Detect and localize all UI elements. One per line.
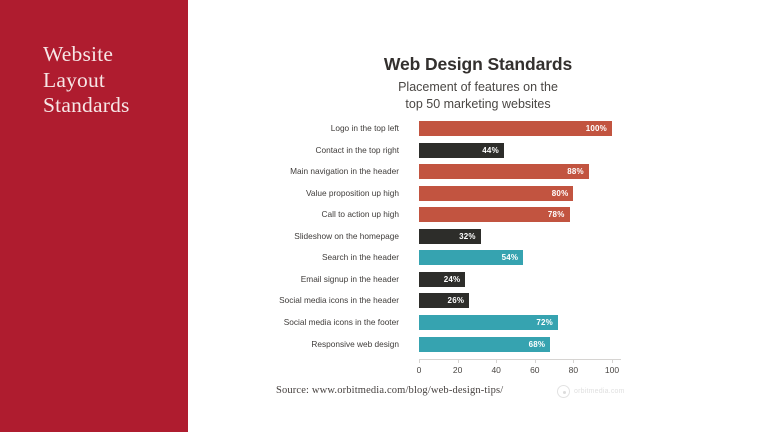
bar-track: 72% (419, 315, 619, 330)
bar-track: 44% (419, 143, 619, 158)
bar-category-label: Responsive web design (188, 337, 403, 352)
bar-row: Main navigation in the header88% (188, 164, 768, 179)
bar-track: 24% (419, 272, 619, 287)
bar-category-label: Main navigation in the header (188, 164, 403, 179)
bar-fill: 26% (419, 293, 469, 308)
bar-category-label: Value proposition up high (188, 186, 403, 201)
x-axis-tick (573, 359, 574, 363)
chart-subtitle: Placement of features on the top 50 mark… (188, 79, 768, 112)
bar-value-label: 100% (586, 121, 607, 136)
logo-text: orbitmedia.com (574, 388, 625, 395)
bar-fill: 24% (419, 272, 465, 287)
bar-fill: 68% (419, 337, 550, 352)
bar-fill: 54% (419, 250, 523, 265)
bar-row: Email signup in the header24% (188, 272, 768, 287)
x-axis-tick-label: 0 (404, 365, 434, 375)
x-axis-tick-label: 20 (443, 365, 473, 375)
slide-title-line-3: Standards (43, 93, 178, 119)
chart-subtitle-line-1: Placement of features on the (188, 79, 768, 96)
chart-title: Web Design Standards (188, 54, 768, 75)
bar-category-label: Contact in the top right (188, 143, 403, 158)
x-axis-tick-label: 60 (520, 365, 550, 375)
bar-fill: 72% (419, 315, 558, 330)
bar-track: 80% (419, 186, 619, 201)
slide-title: Website Layout Standards (43, 42, 178, 119)
x-axis-tick-label: 100 (597, 365, 627, 375)
bar-fill: 100% (419, 121, 612, 136)
x-axis-tick (419, 359, 420, 363)
bar-category-label: Logo in the top left (188, 121, 403, 136)
chart-area: Web Design Standards Placement of featur… (188, 0, 768, 432)
x-axis-line (419, 359, 621, 360)
bar-value-label: 24% (444, 272, 461, 287)
bar-fill: 88% (419, 164, 589, 179)
bar-track: 54% (419, 250, 619, 265)
bar-value-label: 80% (552, 186, 569, 201)
bar-chart-plot: Logo in the top left100%Contact in the t… (188, 118, 768, 358)
x-axis-tick-label: 40 (481, 365, 511, 375)
bar-value-label: 26% (448, 293, 465, 308)
bar-fill: 78% (419, 207, 570, 222)
bar-row: Slideshow on the homepage32% (188, 229, 768, 244)
bar-value-label: 68% (529, 337, 546, 352)
x-axis-tick (458, 359, 459, 363)
bar-row: Call to action up high78% (188, 207, 768, 222)
bar-value-label: 54% (502, 250, 519, 265)
bar-category-label: Social media icons in the footer (188, 315, 403, 330)
chart-subtitle-line-2: top 50 marketing websites (188, 96, 768, 113)
bar-row: Responsive web design68% (188, 337, 768, 352)
bar-row: Search in the header54% (188, 250, 768, 265)
bar-row: Contact in the top right44% (188, 143, 768, 158)
bar-category-label: Email signup in the header (188, 272, 403, 287)
bar-track: 26% (419, 293, 619, 308)
bar-category-label: Search in the header (188, 250, 403, 265)
x-axis-tick (612, 359, 613, 363)
bar-track: 32% (419, 229, 619, 244)
bar-track: 68% (419, 337, 619, 352)
orbitmedia-logo: orbitmedia.com (557, 385, 625, 398)
x-axis-tick (535, 359, 536, 363)
bar-value-label: 78% (548, 207, 565, 222)
bar-fill: 80% (419, 186, 573, 201)
bar-row: Logo in the top left100% (188, 121, 768, 136)
bar-track: 78% (419, 207, 619, 222)
bar-value-label: 88% (567, 164, 584, 179)
bar-track: 100% (419, 121, 619, 136)
side-panel: Website Layout Standards (0, 0, 188, 432)
orbit-circle-icon (557, 385, 570, 398)
bar-value-label: 72% (536, 315, 553, 330)
bar-category-label: Call to action up high (188, 207, 403, 222)
bar-category-label: Social media icons in the header (188, 293, 403, 308)
bar-row: Social media icons in the footer72% (188, 315, 768, 330)
source-note: Source: www.orbitmedia.com/blog/web-desi… (276, 385, 503, 396)
bar-row: Value proposition up high80% (188, 186, 768, 201)
slide-title-line-1: Website (43, 42, 178, 68)
bar-value-label: 32% (459, 229, 476, 244)
bar-row: Social media icons in the header26% (188, 293, 768, 308)
bar-fill: 32% (419, 229, 481, 244)
x-axis-tick (496, 359, 497, 363)
bar-value-label: 44% (482, 143, 499, 158)
bar-fill: 44% (419, 143, 504, 158)
bar-category-label: Slideshow on the homepage (188, 229, 403, 244)
x-axis-tick-label: 80 (558, 365, 588, 375)
slide-title-line-2: Layout (43, 68, 178, 94)
bar-track: 88% (419, 164, 619, 179)
slide-canvas: Website Layout Standards Web Design Stan… (0, 0, 768, 432)
